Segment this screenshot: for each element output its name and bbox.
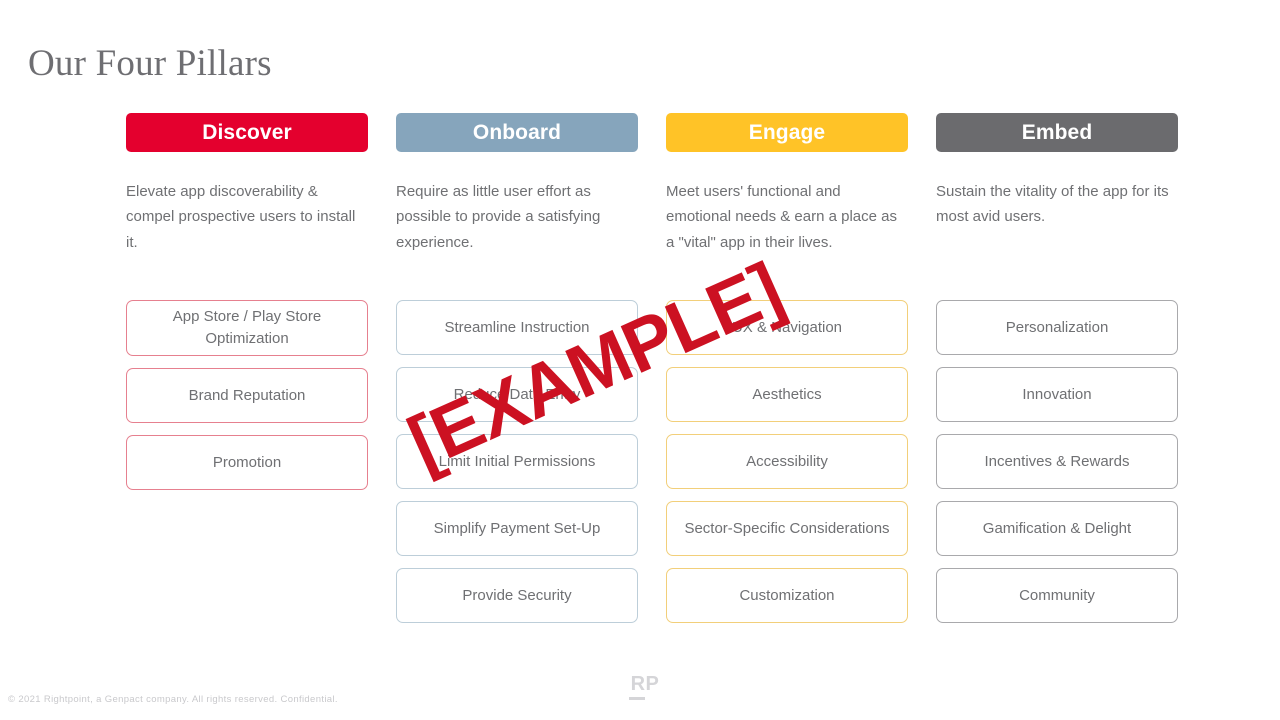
rightpoint-logo: RP: [628, 674, 662, 700]
item-card[interactable]: Streamline Instruction: [396, 300, 638, 355]
item-card[interactable]: Reduce Data Entry: [396, 367, 638, 422]
pillar-items-discover: App Store / Play Store Optimization Bran…: [126, 300, 368, 490]
item-card[interactable]: Personalization: [936, 300, 1178, 355]
item-card[interactable]: Sector-Specific Considerations: [666, 501, 908, 556]
pillar-header-embed[interactable]: Embed: [936, 113, 1178, 152]
item-card[interactable]: App Store / Play Store Optimization: [126, 300, 368, 356]
item-card[interactable]: Aesthetics: [666, 367, 908, 422]
item-card[interactable]: UX & Navigation: [666, 300, 908, 355]
pillar-header-discover[interactable]: Discover: [126, 113, 368, 152]
rightpoint-logo-bar: [629, 697, 645, 700]
item-card[interactable]: Innovation: [936, 367, 1178, 422]
item-card[interactable]: Brand Reputation: [126, 368, 368, 423]
slide-canvas: Our Four Pillars Discover Elevate app di…: [0, 0, 1280, 720]
pillar-column-embed: Embed Sustain the vitality of the app fo…: [936, 113, 1178, 623]
pillar-description-embed: Sustain the vitality of the app for its …: [936, 179, 1178, 283]
pillar-header-onboard[interactable]: Onboard: [396, 113, 638, 152]
item-card[interactable]: Accessibility: [666, 434, 908, 489]
footer-copyright: © 2021 Rightpoint, a Genpact company. Al…: [8, 694, 338, 705]
item-card[interactable]: Provide Security: [396, 568, 638, 623]
pillar-header-engage[interactable]: Engage: [666, 113, 908, 152]
pillar-items-embed: Personalization Innovation Incentives & …: [936, 300, 1178, 623]
pillar-description-discover: Elevate app discoverability & compel pro…: [126, 179, 368, 283]
page-title: Our Four Pillars: [28, 41, 272, 87]
rightpoint-logo-text: RP: [628, 674, 662, 694]
pillar-items-onboard: Streamline Instruction Reduce Data Entry…: [396, 300, 638, 623]
item-card[interactable]: Community: [936, 568, 1178, 623]
item-card[interactable]: Limit Initial Permissions: [396, 434, 638, 489]
pillar-column-engage: Engage Meet users' functional and emotio…: [666, 113, 908, 623]
pillar-column-onboard: Onboard Require as little user effort as…: [396, 113, 638, 623]
item-card[interactable]: Gamification & Delight: [936, 501, 1178, 556]
pillar-column-discover: Discover Elevate app discoverability & c…: [126, 113, 368, 623]
pillars-grid: Discover Elevate app discoverability & c…: [126, 113, 1180, 623]
item-card[interactable]: Promotion: [126, 435, 368, 490]
pillar-items-engage: UX & Navigation Aesthetics Accessibility…: [666, 300, 908, 623]
pillar-description-engage: Meet users' functional and emotional nee…: [666, 179, 908, 283]
item-card[interactable]: Incentives & Rewards: [936, 434, 1178, 489]
item-card[interactable]: Simplify Payment Set-Up: [396, 501, 638, 556]
pillar-description-onboard: Require as little user effort as possibl…: [396, 179, 638, 283]
item-card[interactable]: Customization: [666, 568, 908, 623]
